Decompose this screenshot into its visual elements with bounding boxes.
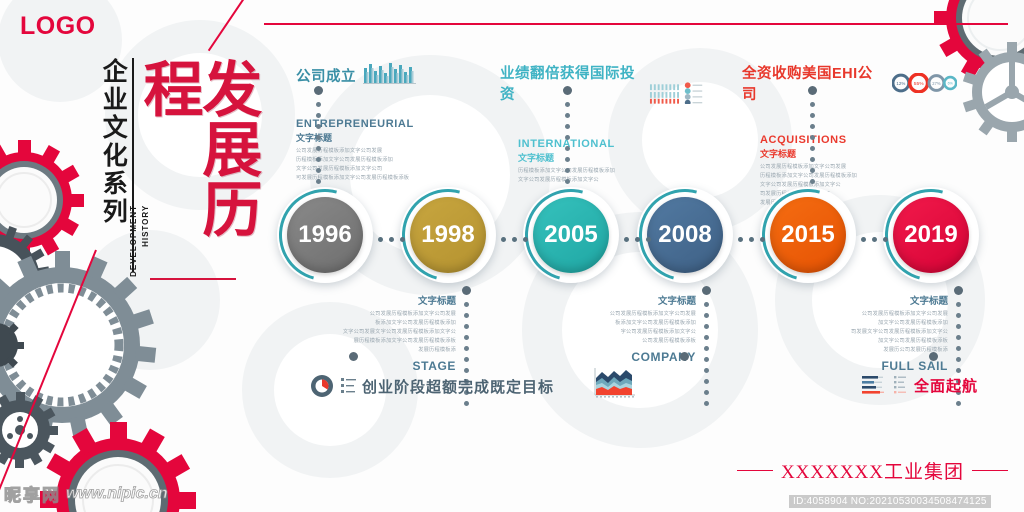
milestone-top-2-subtitle: 文字标题 <box>518 151 715 164</box>
milestone-year-2019: 2019 <box>893 197 969 273</box>
milestone-top-1-en: ENTREPRENEURIAL <box>296 118 496 130</box>
footer-company-name: XXXXXXX工业集团 <box>781 457 964 484</box>
milestone-circle-2015[interactable]: 2015 <box>760 187 856 283</box>
tagline-1-connector <box>351 352 358 368</box>
milestone-top-2-en: INTERNATIONAL <box>518 138 715 150</box>
tagline-2-text: 全面起航 <box>914 375 978 396</box>
milestone-top-2-body: 历程模板添加文字公司发展历程模板添加 文字公司发展历程模板添加文字公 <box>518 167 715 185</box>
milestone-top-1-body: 公司发展历程模板添加文字公司发展 历程模板添加文字公司发展历程模板添加 文字公司… <box>296 147 496 183</box>
milestone-bottom-3-subtitle: 文字标题 <box>812 293 948 307</box>
milestone-bottom-1-body: 公司发展历程模板添加文字公司发展 板添加文字公司发展历程模板添加 文字公司发展文… <box>320 310 456 355</box>
timeline-dots-2 <box>501 231 534 238</box>
milestone-year-1996: 1996 <box>287 197 363 273</box>
title-series-label: 企业文化系列 <box>100 58 126 263</box>
tagline-1: 创业阶段超额完成既定目标 <box>308 372 554 400</box>
milestone-bottom-2-en: COMPANY <box>560 350 696 364</box>
watermark-site-cn: 昵享网 <box>4 481 61 506</box>
watermark-id: ID:4058904 NO:20210530034508474125 <box>789 495 991 508</box>
milestone-year-1998: 1998 <box>410 197 486 273</box>
poster-title: 企业文化系列 发展历程 <box>100 58 256 288</box>
svg-text:27%: 27% <box>932 81 941 86</box>
timeline-dots-1 <box>378 231 411 238</box>
title-english-line2: HISTORY <box>141 205 150 247</box>
svg-text:6%: 6% <box>948 82 954 86</box>
tagline-2-connector <box>931 352 938 368</box>
logo: LOGO <box>20 12 96 41</box>
milestone-circle-1998[interactable]: 1998 <box>400 187 496 283</box>
footer: XXXXXXX工业集团 <box>737 457 1008 484</box>
timeline-dots-4 <box>738 231 771 238</box>
timeline-dots-3 <box>624 231 657 238</box>
tagline-mid-connector <box>682 352 689 368</box>
tagline-1-text: 创业阶段超额完成既定目标 <box>362 376 554 397</box>
donut-chart-icon <box>308 372 336 400</box>
connector-dots-bottom-2 <box>704 286 711 412</box>
bar-chart-icon <box>362 62 418 86</box>
milestone-top-2: 业绩翻倍获得国际投资 <box>500 62 715 185</box>
milestone-circle-1996[interactable]: 1996 <box>277 187 373 283</box>
page-title: 发展历程 <box>138 58 256 273</box>
milestone-year-2008: 2008 <box>647 197 723 273</box>
milestone-year-2005: 2005 <box>533 197 609 273</box>
legend-list-icon <box>341 376 357 396</box>
milestone-bottom-1: 文字标题 公司发展历程模板添加文字公司发展 板添加文字公司发展历程模板添加 文字… <box>320 292 456 373</box>
milestone-bottom-2: 文字标题 公司发展历程模板添加文字公司发展 板添加文字公司发展历程模板添加 字公… <box>560 292 696 364</box>
footer-rule-left <box>737 470 773 472</box>
milestone-top-1-headline: 公司成立 <box>296 65 356 86</box>
area-chart-icon <box>592 366 638 400</box>
svg-text:55%: 55% <box>914 81 924 87</box>
percent-rings-icon: 12% 55% 27% 6% <box>892 73 957 93</box>
milestone-top-3-en: ACQUISITIONS <box>760 134 957 146</box>
watermark-site: 昵享网 www.nipic.cn <box>4 481 168 506</box>
milestone-bottom-3: 文字标题 公司发展历程模板添加文字公司发展 加文字公司发展历程模板添加 司发展文… <box>812 292 948 373</box>
title-underline <box>150 278 236 280</box>
middle-chart <box>592 366 638 405</box>
tagline-2: 全面起航 <box>862 374 978 396</box>
footer-rule-right <box>972 470 1008 472</box>
milestone-bottom-3-en: FULL SAIL <box>812 359 948 373</box>
milestone-bottom-2-body: 公司发展历程模板添加文字公司发展 板添加文字公司发展历程模板添加 字公司发展历程… <box>560 310 696 346</box>
milestone-top-3-subtitle: 文字标题 <box>760 147 957 160</box>
milestone-top-1: 公司成立 ENTREPRENE <box>296 62 496 183</box>
milestone-year-2015: 2015 <box>770 197 846 273</box>
milestone-circle-2019[interactable]: 2019 <box>883 187 979 283</box>
title-english-line1: DEVELOPMENT <box>129 205 138 277</box>
milestone-top-2-headline: 业绩翻倍获得国际投资 <box>500 62 645 104</box>
milestone-bottom-2-subtitle: 文字标题 <box>560 293 696 307</box>
timeline-dots-5 <box>861 231 894 238</box>
milestone-circle-2005[interactable]: 2005 <box>523 187 619 283</box>
watermark-site-url: www.nipic.cn <box>66 485 168 503</box>
title-english: DEVELOPMENT HISTORY <box>128 205 152 277</box>
people-infographic-icon <box>649 82 715 104</box>
legend-dots-icon <box>894 374 908 396</box>
top-horizontal-rule <box>264 23 1008 25</box>
poster-canvas: LOGO 企业文化系列 发展历程 DEVELOPMENT HISTORY 公司成… <box>0 0 1024 512</box>
milestone-bottom-3-body: 公司发展历程模板添加文字公司发展 加文字公司发展历程模板添加 司发展文字公司发展… <box>812 310 948 355</box>
svg-text:12%: 12% <box>896 81 905 86</box>
milestone-bottom-1-subtitle: 文字标题 <box>320 293 456 307</box>
bar-list-icon <box>862 374 888 396</box>
milestone-top-1-subtitle: 文字标题 <box>296 131 496 144</box>
